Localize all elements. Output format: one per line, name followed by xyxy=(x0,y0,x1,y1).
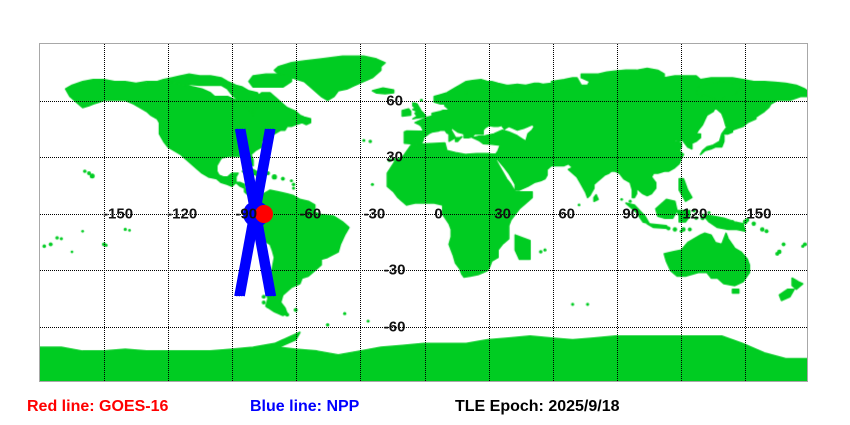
longitude-label--30: -30 xyxy=(364,205,386,222)
longitude-label-60: 60 xyxy=(558,205,575,222)
world-map-panel[interactable]: -300306090120150180-150-120-90-60906030-… xyxy=(39,43,808,382)
latitude-label--30: -30 xyxy=(384,262,406,279)
goes16-satellite-marker[interactable] xyxy=(255,205,273,223)
longitude-label--120: -120 xyxy=(167,205,197,222)
longitude-label--150: -150 xyxy=(103,205,133,222)
longitude-label-150: 150 xyxy=(746,205,771,222)
latitude-label-90: 90 xyxy=(386,43,403,44)
longitude-label-0: 0 xyxy=(434,205,442,222)
latitude-label-60: 60 xyxy=(386,92,403,109)
legend-goes16: Red line: GOES-16 xyxy=(27,398,168,416)
longitude-label--90: -90 xyxy=(235,205,257,222)
longitude-label--60: -60 xyxy=(299,205,321,222)
satellite-track-map-page: -300306090120150180-150-120-90-60906030-… xyxy=(0,0,850,425)
latitude-label--60: -60 xyxy=(384,318,406,335)
latitude-label-30: 30 xyxy=(386,149,403,166)
longitude-label-30: 30 xyxy=(494,205,511,222)
longitude-label-120: 120 xyxy=(682,205,707,222)
legend-tle-epoch: TLE Epoch: 2025/9/18 xyxy=(455,398,620,416)
legend-npp: Blue line: NPP xyxy=(250,398,359,416)
longitude-label-90: 90 xyxy=(622,205,639,222)
legend-footer: Red line: GOES-16 Blue line: NPP TLE Epo… xyxy=(0,392,850,425)
